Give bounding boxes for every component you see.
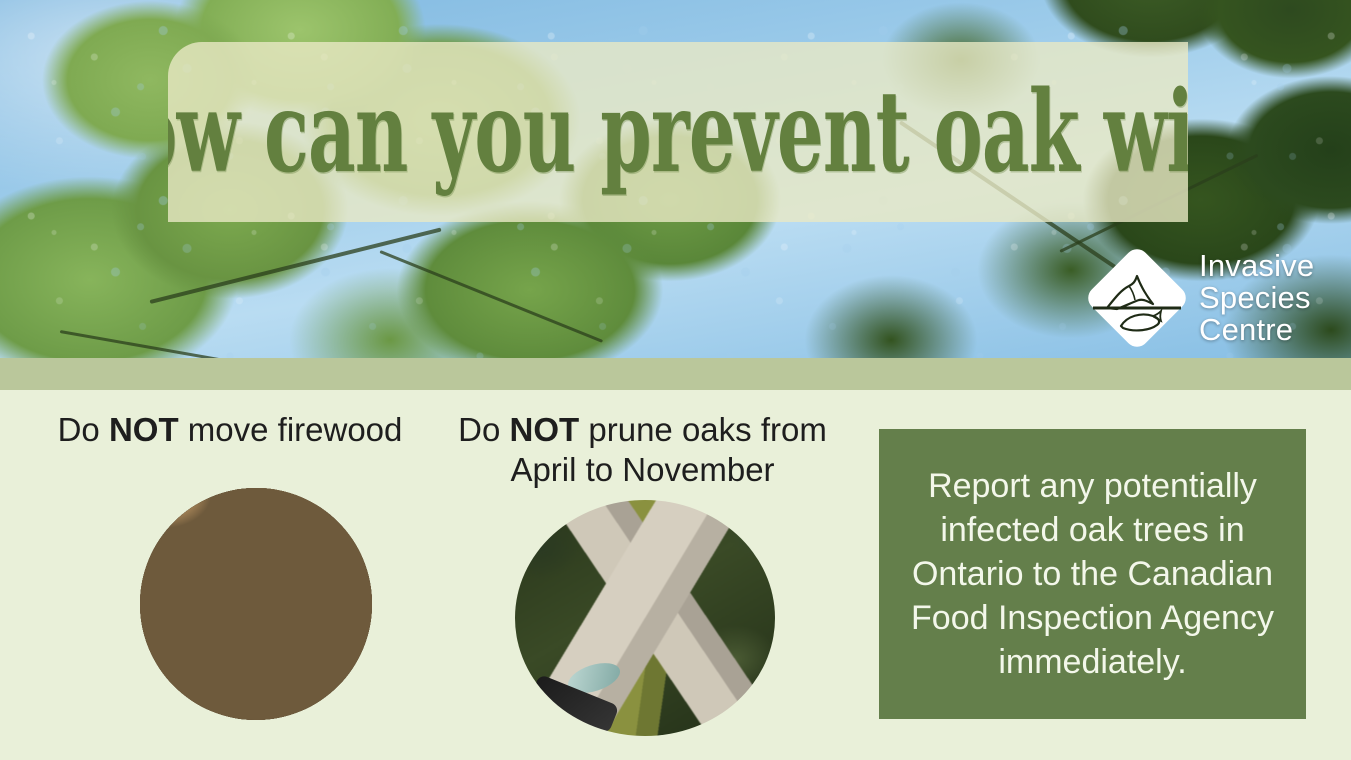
caption-text-after: move firewood [179,411,403,448]
title-panel: How can you prevent oak wilt? [168,42,1188,222]
caption-text-bold: NOT [510,411,580,448]
logo[interactable]: Invasive Species Centre [1085,244,1347,352]
logo-line-1: Invasive [1199,250,1314,282]
caption-text-bold: NOT [109,411,179,448]
tip-caption-pruning: Do NOT prune oaks from April to November [430,410,855,491]
oak-wilt-prevention-poster: How can you prevent oak wilt? Invasive S… [0,0,1351,760]
logo-wordmark: Invasive Species Centre [1199,250,1314,346]
report-callout-box: Report any potentially infected oak tree… [879,429,1306,719]
page-title: How can you prevent oak wilt? [168,76,1188,188]
photo-pruning-shears [515,500,775,736]
caption-text-before: Do [58,411,109,448]
caption-text-before: Do [458,411,509,448]
divider-band [0,358,1351,390]
logo-line-3: Centre [1199,314,1314,346]
report-message: Report any potentially infected oak tree… [879,464,1306,685]
invasive-species-centre-diamond-icon [1085,246,1189,350]
firewood-texture [140,488,372,720]
tip-caption-firewood: Do NOT move firewood [20,410,440,450]
logo-line-2: Species [1199,282,1314,314]
photo-firewood-stack [140,488,372,720]
